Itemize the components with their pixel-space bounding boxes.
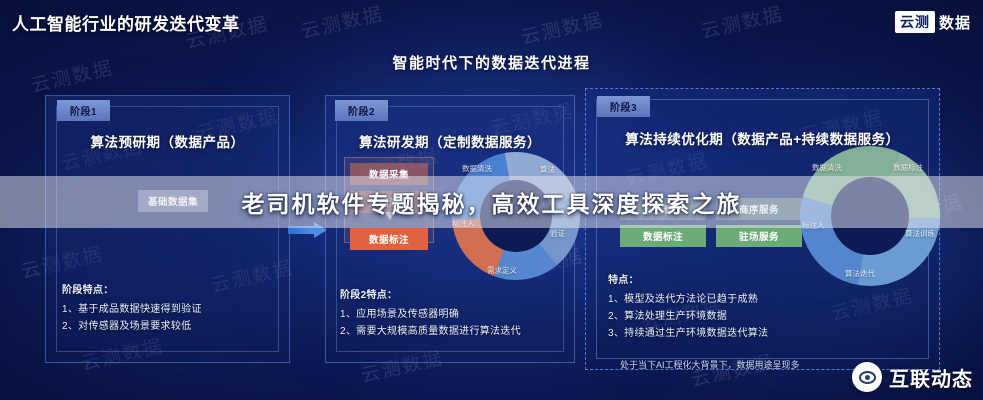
stage-features-3: 特点： 1、模型及迭代方法论已趋于成熟 2、算法处理生产环境数据 3、持续通过生… [608, 272, 768, 342]
stage-title-1: 算法预研期（数据产品） [45, 131, 290, 151]
page-title: 人工智能行业的研发迭代变革 [12, 10, 240, 35]
watermark-text: 云测数据 [518, 5, 606, 50]
brand-name: 数据 [939, 12, 971, 33]
infographic-root: 云测数据 云测数据 云测数据 云测数据 云测数据 云测数据 云测数据 云测数据 … [0, 0, 983, 400]
brand-mark: 云测 [895, 11, 935, 33]
feature-item: 3、持续通过生产环境数据迭代算法 [608, 325, 768, 342]
main-heading: 智能时代下的数据迭代进程 [0, 52, 983, 73]
donut-label: 算法 [540, 164, 555, 175]
stage-features-2: 阶段2特点： 1、应用场景及传感器明确 2、需要大规模高质量数据进行算法迭代 [340, 287, 521, 340]
features-heading: 阶段特点： [62, 282, 202, 299]
donut-label: 验证 [550, 228, 565, 239]
feature-item: 1、应用场景及传感器明确 [340, 306, 521, 323]
chip-data-annotation: 数据标注 [350, 228, 428, 250]
stage-badge-1: 阶段1 [57, 100, 110, 121]
stage-features-1: 阶段特点： 1、基于成品数据快速得到验证 2、对传感器及场景要求较低 [62, 282, 202, 335]
weibo-watermark: 互联动态 [852, 362, 973, 392]
donut-label: 需求定义 [487, 265, 517, 276]
stage-badge-3: 阶段3 [597, 96, 650, 117]
feature-item: 2、对传感器及场景要求较低 [62, 318, 202, 335]
feature-item: 2、算法处理生产环境数据 [608, 308, 768, 325]
watermark-text: 云测数据 [298, 0, 386, 44]
overlay-banner: 老司机软件专题揭秘，高效工具深度探索之旅 [0, 176, 983, 228]
bottom-note: 处于当下AI工程化大背景下，数据用途呈现多 [620, 358, 800, 371]
watermark-text: 云测数据 [698, 0, 786, 44]
weibo-icon [852, 362, 882, 392]
overlay-banner-text: 老司机软件专题揭秘，高效工具深度探索之旅 [242, 185, 742, 219]
stage-title-3: 算法持续优化期（数据产品+持续数据服务） [585, 128, 940, 148]
donut-label: 算法迭代 [845, 268, 875, 279]
brand-logo: 云测 数据 [895, 11, 971, 33]
chip-data-annotation-s3: 数据标注 [620, 225, 706, 247]
weibo-account-name: 互联动态 [889, 363, 973, 392]
donut-label: 数据标注 [893, 162, 923, 173]
stage-badge-2: 阶段2 [335, 100, 388, 121]
chip-onsite-service: 驻场服务 [716, 225, 802, 247]
donut-label: 数据清洗 [812, 162, 842, 173]
feature-item: 1、模型及迭代方法论已趋于成熟 [608, 291, 768, 308]
donut-label: 数据清洗 [462, 163, 492, 174]
features-heading: 阶段2特点： [340, 287, 521, 304]
stage-title-2: 算法研发期（定制数据服务） [325, 131, 575, 151]
feature-item: 2、需要大规模高质量数据进行算法迭代 [340, 323, 521, 340]
donut-label: 算法训练 [905, 228, 935, 239]
feature-item: 1、基于成品数据快速得到验证 [62, 301, 202, 318]
features-heading: 特点： [608, 272, 768, 289]
